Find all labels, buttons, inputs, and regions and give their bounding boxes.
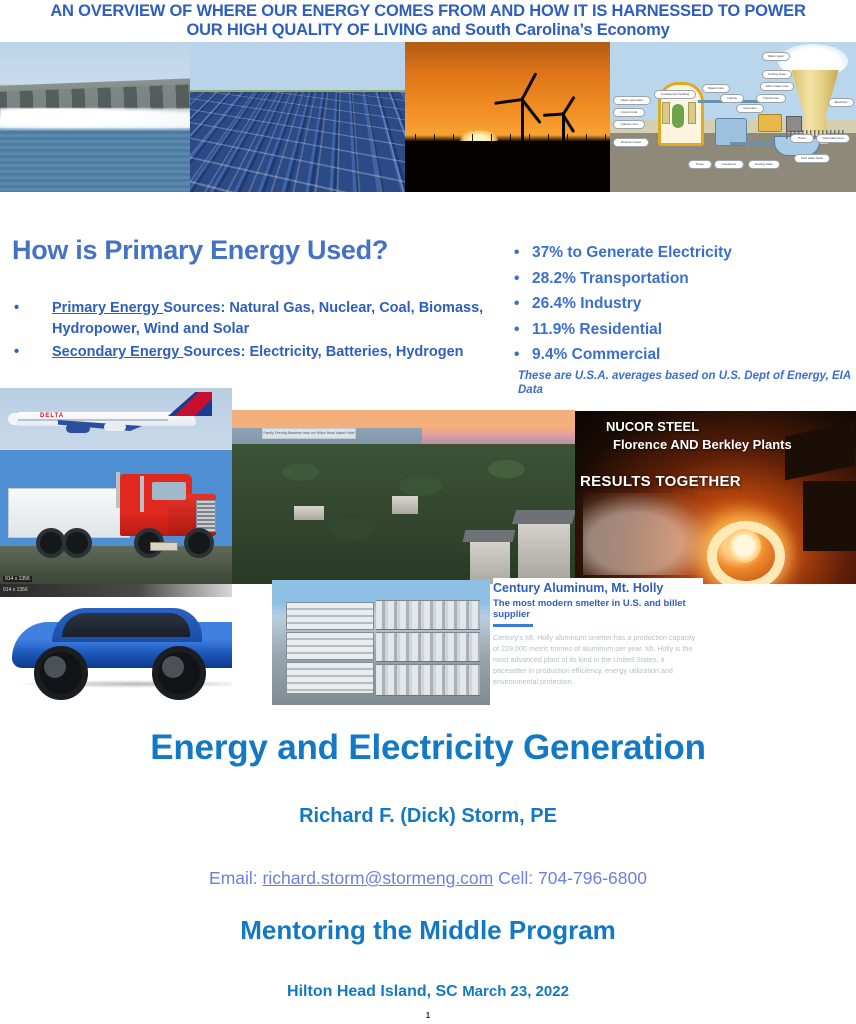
- diagram-label-generator: Generator: [736, 104, 764, 113]
- energy-use-percentage-list: • 37% to Generate Electricity • 28.2% Tr…: [514, 240, 854, 368]
- nuclear-plant-diagram: Steam generator Control rods Uranium fue…: [610, 42, 856, 192]
- email-link[interactable]: richard.storm@stormeng.com: [263, 868, 494, 888]
- condo-roof-1: [512, 510, 575, 524]
- delta-airplane-photo: DELTA: [0, 388, 232, 450]
- condo-roof-2: [463, 530, 516, 542]
- diagram-label-reactor-vessel: Reactor vessel: [613, 138, 649, 147]
- data-source-note: These are U.S.A. averages based on U.S. …: [518, 369, 856, 397]
- building-small-2: [294, 506, 324, 520]
- diagram-label-warm-water-inlet: Warm water inlet: [760, 82, 794, 91]
- steel-mill-smoke: [583, 493, 713, 575]
- diagram-label-transformer: Transformer: [756, 94, 786, 103]
- reactor-core: [672, 104, 684, 128]
- airline-name: DELTA: [40, 413, 64, 419]
- list-item-underlined-label: Primary Energy: [52, 300, 163, 316]
- diagram-label-steam-generator: Steam generator: [613, 96, 651, 105]
- bullet-marker: •: [514, 266, 532, 292]
- billet-stack-1: [286, 602, 374, 630]
- bullet-marker: •: [8, 298, 52, 340]
- list-item: • 11.9% Residential: [514, 317, 854, 343]
- diagram-label-condenser: Condenser: [714, 160, 744, 169]
- energy-source-photo-band: Steam generator Control rods Uranium fue…: [0, 42, 856, 192]
- list-item: • Secondary Energy Sources: Electricity,…: [8, 342, 508, 363]
- turbine-blade-1a: [521, 72, 538, 100]
- nucor-plant-names: Florence AND Berkley Plants: [613, 437, 792, 452]
- diagram-label-control-rods: Control rods: [613, 108, 645, 117]
- diagram-label-turbine: Turbine: [720, 94, 744, 103]
- century-subtitle: The most modern smelter in U.S. and bill…: [493, 598, 693, 620]
- turbine-blade-2c: [543, 113, 563, 117]
- presentation-title: Energy and Electricity Generation: [0, 728, 856, 768]
- photo-top-strip: 914 x 1356: [0, 584, 232, 597]
- airplane-engine-2: [104, 423, 126, 431]
- solar-cell-grid: [190, 92, 405, 192]
- bullet-marker: •: [514, 342, 532, 368]
- billet-bundle-3: [376, 664, 480, 696]
- coastal-aerial-photo: Family Friendly Beaches near our Hilton …: [232, 410, 575, 584]
- presentation-slide: AN OVERVIEW OF WHERE OUR ENERGY COMES FR…: [0, 0, 856, 1024]
- list-item: • 28.2% Transportation: [514, 266, 854, 292]
- phone-text: Cell: 704-796-6800: [493, 868, 647, 888]
- car-hubcap-front: [162, 656, 184, 678]
- page-title: How is Primary Energy Used?: [12, 235, 388, 266]
- list-item: • 37% to Generate Electricity: [514, 240, 854, 266]
- century-title: Century Aluminum, Mt. Holly: [493, 581, 663, 595]
- list-item: • Primary Energy Sources: Natural Gas, N…: [8, 298, 508, 340]
- diagram-label-cooling-water: Cooling water: [748, 160, 780, 169]
- century-paragraph: Century's Mt. Holly aluminum smelter has…: [493, 632, 698, 687]
- list-item-label: 11.9% Residential: [532, 317, 662, 343]
- list-item-text: Primary Energy Sources: Natural Gas, Nuc…: [52, 298, 508, 340]
- image-dimension-tag: 914 x 1356: [3, 587, 28, 593]
- bullet-marker: •: [514, 291, 532, 317]
- diagram-label-pump-1: Pump: [688, 160, 712, 169]
- bullet-marker: •: [514, 317, 532, 343]
- mill-structure-2: [803, 481, 856, 551]
- venue-location: Hilton Head Island, SC: [287, 983, 458, 1000]
- turbine-blade-2a: [562, 96, 575, 115]
- list-item: • 26.4% Industry: [514, 291, 854, 317]
- list-item-underlined-label: Secondary Energy: [52, 344, 183, 360]
- airplane-livery-stripe: [18, 419, 168, 421]
- control-rod-1: [662, 102, 670, 124]
- truck-window: [152, 482, 186, 500]
- page-number: 1: [0, 1011, 856, 1020]
- control-rod-2: [688, 102, 696, 124]
- wind-turbines-sunset-photo: [405, 42, 610, 192]
- exhaust-stack-2: [140, 476, 144, 512]
- billet-bundle-2: [376, 632, 480, 662]
- list-item-label: 9.4% Commercial: [532, 342, 660, 368]
- image-dimension-tag: 914 x 1356: [3, 576, 32, 582]
- diagram-label-cold-water-feed: Cold water feed: [816, 134, 850, 143]
- list-item: • 9.4% Commercial: [514, 342, 854, 368]
- license-plate: [150, 542, 178, 551]
- diagram-label-uranium-fuel: Uranium fuel: [613, 120, 645, 129]
- airplane-engine-1: [66, 424, 90, 433]
- diagram-label-containment-building: Containment building: [654, 90, 696, 99]
- program-name: Mentoring the Middle Program: [0, 915, 856, 946]
- header-line-2: OUR HIGH QUALITY OF LIVING and South Car…: [0, 21, 856, 40]
- dam-foam: [0, 108, 190, 130]
- tesla-model-3-photo: 914 x 1356: [0, 584, 232, 706]
- nucor-company-name: NUCOR STEEL: [606, 419, 699, 434]
- dark-horizon: [405, 141, 610, 192]
- photo-caption: Family Friendly Beaches near our Hilton …: [262, 428, 356, 439]
- billet-bundle-1: [376, 600, 480, 630]
- aluminum-billets-photo: [272, 580, 490, 705]
- slide-header-title: AN OVERVIEW OF WHERE OUR ENERGY COMES FR…: [0, 2, 856, 40]
- building-small-1: [392, 496, 418, 514]
- condo-building-1: [518, 518, 570, 578]
- exhaust-stack-1: [116, 472, 120, 508]
- hydroelectric-dam-photo: [0, 42, 190, 192]
- list-item-label: 26.4% Industry: [532, 291, 641, 317]
- contact-line: Email: richard.storm@stormeng.com Cell: …: [0, 868, 856, 889]
- header-line-1: AN OVERVIEW OF WHERE OUR ENERGY COMES FR…: [0, 2, 856, 21]
- presenter-name: Richard F. (Dick) Storm, PE: [0, 805, 856, 828]
- list-item-label: 28.2% Transportation: [532, 266, 689, 292]
- mill-structure-1: [785, 422, 855, 481]
- car-windows: [62, 613, 190, 637]
- venue-date: March 23, 2022: [462, 983, 569, 1000]
- turbine-blade-1c: [494, 98, 522, 105]
- billet-stack-2: [286, 632, 374, 660]
- generator: [758, 114, 782, 132]
- list-item-body: Sources: Electricity, Batteries, Hydroge…: [183, 344, 463, 360]
- solar-panel-array-photo: [190, 42, 405, 192]
- nucor-tagline: RESULTS TOGETHER: [580, 473, 741, 490]
- semi-truck-photo: 914 x 1356: [0, 450, 232, 584]
- century-divider: [493, 624, 533, 627]
- diagram-label-cooling-tower: Cooling tower: [762, 70, 792, 79]
- diagram-label-electricity: Electricity: [828, 98, 854, 107]
- primary-energy-bullet-list: • Primary Energy Sources: Natural Gas, N…: [8, 298, 508, 365]
- bullet-marker: •: [8, 342, 52, 363]
- email-label: Email:: [209, 868, 262, 888]
- bullet-marker: •: [514, 240, 532, 266]
- list-item-label: 37% to Generate Electricity: [532, 240, 732, 266]
- billet-stack-3: [286, 662, 374, 694]
- dam-water: [0, 128, 190, 192]
- diagram-label-cool-water-basin: Cool water basin: [794, 154, 830, 163]
- diagram-label-water-vapor: Water vapor: [762, 52, 790, 61]
- nucor-steel-photo: NUCOR STEEL Florence AND Berkley Plants …: [575, 411, 856, 584]
- coil-inner-glow: [727, 529, 761, 563]
- century-aluminum-info-block: Century Aluminum, Mt. Holly The most mod…: [493, 578, 703, 706]
- list-item-text: Secondary Energy Sources: Electricity, B…: [52, 342, 508, 363]
- trailer-wheel-2: [62, 528, 92, 558]
- diagram-label-pump-2: Pump: [790, 134, 814, 143]
- car-hubcap-rear: [44, 656, 66, 678]
- tractor-wheel-2: [184, 528, 214, 558]
- airplane-tail-fin: [168, 392, 212, 416]
- venue-line: Hilton Head Island, SC March 23, 2022: [0, 983, 856, 1001]
- diagram-label-steam-lines: Steam lines: [702, 84, 730, 93]
